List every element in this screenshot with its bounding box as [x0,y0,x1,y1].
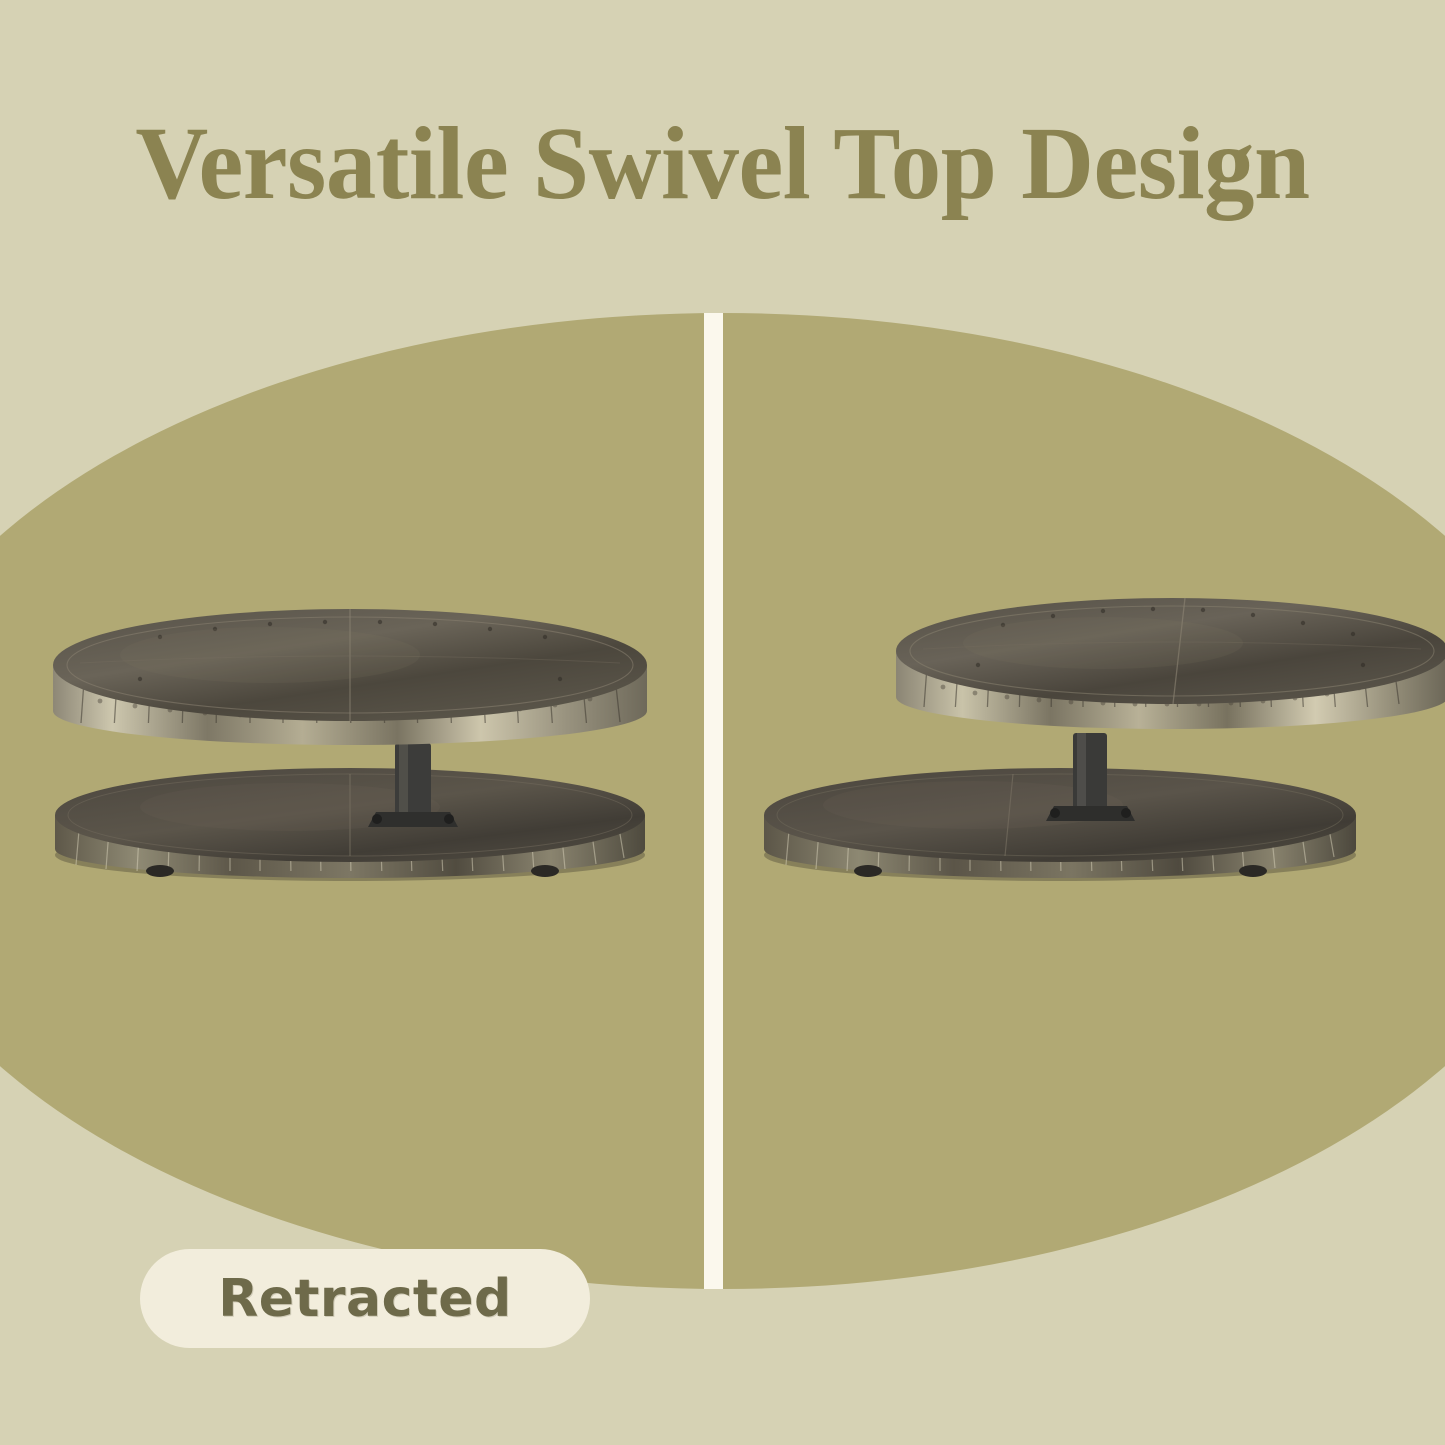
comparison-pane-retracted: Retracted [0,313,704,1289]
swivel-table-extended-illustration [753,593,1445,883]
pane-divider [704,313,723,1289]
caption-label-retracted: Retracted [218,1269,512,1329]
caption-pill-retracted: Retracted [140,1249,590,1348]
swivel-table-retracted-illustration [40,593,660,883]
product-stage-retracted [0,313,704,1289]
marketing-image-canvas: Versatile Swivel Top Design [0,0,1445,1445]
page-title: Versatile Swivel Top Design [22,112,1424,216]
comparison-pane-extended: Extended [723,313,1445,1289]
product-stage-extended [723,313,1445,1289]
